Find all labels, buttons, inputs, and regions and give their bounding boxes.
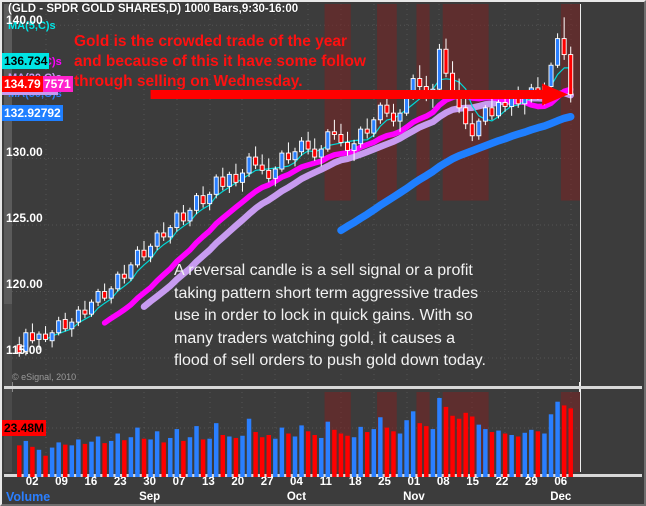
candle-body: [306, 141, 310, 149]
volume-bar: [37, 450, 41, 472]
volume-bar: [181, 441, 185, 472]
candle-body: [352, 144, 356, 151]
candle-body: [240, 173, 244, 182]
volume-bar: [267, 435, 271, 472]
volume-bar: [339, 434, 343, 472]
date-tick: 01: [408, 476, 421, 488]
volume-bar: [96, 436, 100, 472]
volume-bar: [234, 438, 238, 472]
candle-body: [50, 333, 54, 341]
volume-bar: [483, 429, 487, 472]
volume-bar: [207, 439, 211, 472]
volume-bar: [56, 442, 60, 472]
last-price-chip: 134.79: [2, 76, 43, 92]
candle-body: [359, 129, 363, 144]
candle-body: [129, 265, 133, 278]
volume-bar: [102, 443, 106, 472]
candle-body: [556, 39, 560, 66]
date-tick: 13: [202, 476, 215, 488]
volume-bar: [411, 411, 415, 472]
date-axis[interactable]: 02091623300713202704111825010815222906Se…: [12, 474, 580, 506]
candle-body: [103, 291, 107, 298]
volume-bar: [286, 434, 290, 472]
volume-bar: [477, 425, 481, 472]
pane-separator-top: [4, 386, 642, 389]
candle-body: [135, 250, 139, 265]
volume-bar: [352, 437, 356, 472]
month-tick: Oct: [287, 491, 306, 503]
candle-body: [569, 55, 573, 95]
candle-body: [470, 124, 474, 136]
candle-body: [194, 196, 198, 211]
volume-bar: [378, 417, 382, 472]
volume-bar: [253, 432, 257, 472]
candle-body: [142, 250, 146, 257]
candle-body: [339, 134, 343, 142]
volume-bar: [319, 438, 323, 472]
candle-body: [326, 132, 330, 149]
volume-bar: [372, 429, 376, 472]
candle-body: [286, 153, 290, 160]
ma5-value-chip: 136.734: [2, 53, 49, 69]
volume-bar: [391, 431, 395, 472]
volume-bar: [122, 440, 126, 472]
price-tick-130: 130.00: [6, 145, 43, 159]
volume-bar: [63, 445, 67, 472]
candle-body: [464, 108, 468, 124]
volume-bar: [89, 442, 93, 472]
ma50-value-chip: 132.92792: [2, 105, 63, 121]
volume-bar: [175, 429, 179, 472]
volume-bar: [76, 439, 80, 472]
date-tick: 16: [84, 476, 97, 488]
date-tick: 30: [143, 476, 156, 488]
candle-body: [385, 105, 389, 113]
candle-body: [149, 246, 153, 257]
price-tick-125: 125.00: [6, 211, 43, 225]
volume-bar: [280, 428, 284, 472]
volume-bar: [70, 445, 74, 472]
volume-bar: [148, 439, 152, 472]
candle-body: [44, 334, 48, 339]
candle-body: [83, 310, 87, 314]
volume-bar: [470, 417, 474, 473]
annotation-white-note: A reversal candle is a sell signal or a …: [174, 260, 486, 373]
volume-bar: [562, 405, 566, 472]
candle-body: [168, 228, 172, 237]
candle-body: [490, 108, 494, 116]
volume-bar: [332, 430, 336, 472]
watermark: © eSignal, 2010: [12, 372, 76, 382]
candle-body: [477, 121, 481, 136]
candle-body: [418, 79, 422, 87]
candle-body: [70, 322, 74, 329]
candle-body: [201, 196, 205, 204]
date-tick: 11: [320, 476, 332, 488]
volume-bar: [326, 422, 330, 472]
date-tick: 02: [26, 476, 39, 488]
volume-chart-svg: [12, 392, 580, 472]
candle-body: [345, 142, 349, 150]
date-tick: 07: [173, 476, 186, 488]
date-tick: 20: [231, 476, 244, 488]
volume-bar: [188, 437, 192, 472]
volume-bar: [555, 402, 559, 472]
month-tick: Dec: [550, 491, 571, 503]
candle-body: [313, 149, 317, 157]
volume-bar: [496, 431, 500, 472]
volume-bar: [312, 435, 316, 472]
candle-body: [214, 177, 218, 194]
volume-bar: [542, 434, 546, 472]
volume-bar: [503, 434, 507, 472]
volume-bar: [129, 437, 133, 472]
candle-body: [30, 333, 34, 341]
ma14-value-chip: 7571: [42, 76, 73, 92]
volume-bar: [509, 435, 513, 472]
volume-bar: [299, 425, 303, 472]
volume-bar: [24, 441, 28, 472]
date-tick: 18: [349, 476, 362, 488]
candle-body: [89, 302, 93, 314]
candle-body: [162, 233, 166, 237]
candle-body: [155, 233, 159, 246]
candle-body: [451, 73, 455, 90]
volume-bar: [523, 433, 527, 472]
esignal-chart-window: (GLD - SPDR GOLD SHARES,D) 1000 Bars,9:3…: [0, 0, 646, 506]
volume-bar: [385, 428, 389, 472]
volume-bar: [444, 407, 448, 472]
volume-bar: [490, 432, 494, 472]
candle-body: [188, 210, 192, 221]
candle-body: [496, 102, 500, 115]
volume-bar: [450, 416, 454, 472]
date-tick: 15: [466, 476, 479, 488]
candle-body: [96, 291, 100, 302]
volume-bar: [549, 414, 553, 472]
volume-bar: [168, 438, 172, 472]
candle-body: [208, 194, 212, 203]
candle-body: [444, 49, 448, 73]
candle-body: [254, 157, 258, 165]
date-tick: 06: [554, 476, 567, 488]
candle-body: [63, 319, 67, 328]
price-tick-140: 140.00: [6, 13, 43, 27]
date-tick: 09: [55, 476, 68, 488]
volume-bar: [109, 441, 113, 472]
candle-body: [398, 113, 402, 121]
volume-bar: [463, 413, 467, 472]
date-tick: 27: [261, 476, 274, 488]
volume-bar: [273, 439, 277, 472]
date-tick: 29: [525, 476, 538, 488]
volume-bar: [227, 436, 231, 472]
candle-body: [267, 170, 271, 178]
candle-body: [181, 213, 185, 221]
chart-title: (GLD - SPDR GOLD SHARES,D) 1000 Bars,9:3…: [8, 3, 298, 15]
candle-body: [562, 39, 566, 55]
volume-bar: [404, 420, 408, 472]
candle-body: [175, 213, 179, 228]
volume-pane-label: Volume: [6, 490, 50, 504]
candle-body: [37, 334, 41, 339]
candle-body: [300, 141, 304, 152]
volume-bar: [161, 442, 165, 472]
date-tick: 22: [496, 476, 509, 488]
candle-body: [227, 174, 231, 186]
candle-body: [437, 49, 441, 89]
volume-value-chip: 23.48M: [2, 420, 46, 436]
candle-body: [365, 129, 369, 133]
candle-body: [378, 105, 382, 120]
volume-bar: [116, 434, 120, 472]
price-tick-115: 115.00: [6, 343, 42, 357]
month-tick: Sep: [139, 491, 160, 503]
candle-body: [109, 289, 113, 298]
volume-bar: [221, 435, 225, 472]
volume-bar: [431, 429, 435, 472]
volume-bar: [142, 439, 146, 472]
date-tick: 04: [290, 476, 303, 488]
volume-bar: [30, 447, 34, 472]
volume-bar: [260, 437, 264, 472]
volume-bar: [83, 444, 87, 472]
volume-bar: [306, 431, 310, 472]
volume-bar: [516, 436, 520, 472]
candle-body: [122, 274, 126, 278]
candle-body: [234, 174, 238, 182]
volume-bar: [437, 398, 441, 472]
candle-body: [549, 65, 553, 86]
volume-bar: [293, 436, 297, 472]
candle-body: [293, 152, 297, 160]
volume-bar: [201, 439, 205, 472]
volume-bar: [155, 431, 159, 472]
volume-bar: [358, 427, 362, 472]
volume-bar: [424, 426, 428, 472]
candle-body: [372, 120, 376, 133]
candle-body: [221, 177, 225, 186]
candle-body: [247, 157, 251, 173]
volume-bar: [417, 423, 421, 472]
candle-body: [273, 169, 277, 178]
volume-bar: [345, 436, 349, 472]
candle-body: [503, 102, 507, 106]
volume-pane[interactable]: [12, 392, 580, 472]
candle-body: [76, 310, 80, 322]
volume-bar: [457, 419, 461, 472]
volume-bar: [365, 432, 369, 472]
candle-body: [332, 132, 336, 135]
volume-bar: [50, 448, 54, 472]
annotation-red-note: Gold is the crowded trade of the year an…: [74, 32, 366, 92]
volume-bar: [135, 428, 139, 472]
volume-bar: [536, 431, 540, 472]
volume-bar: [398, 434, 402, 472]
volume-bars: [17, 398, 573, 472]
volume-bar: [240, 436, 244, 472]
volume-bar: [568, 408, 572, 472]
date-tick: 25: [378, 476, 391, 488]
candle-body: [280, 153, 284, 169]
date-tick-strip: [12, 470, 580, 477]
candle-body: [116, 274, 120, 289]
volume-bar: [194, 426, 198, 472]
candle-body: [260, 165, 264, 170]
price-tick-120: 120.00: [6, 277, 43, 291]
volume-bar: [17, 445, 21, 472]
date-tick: 08: [437, 476, 450, 488]
month-tick: Nov: [403, 491, 425, 503]
candle-body: [57, 321, 61, 333]
date-tick: 23: [114, 476, 127, 488]
volume-bar: [214, 423, 218, 472]
candle-body: [319, 149, 323, 157]
volume-bar: [529, 430, 533, 472]
volume-bar: [247, 419, 251, 472]
candle-body: [483, 108, 487, 121]
candle-body: [391, 113, 395, 121]
